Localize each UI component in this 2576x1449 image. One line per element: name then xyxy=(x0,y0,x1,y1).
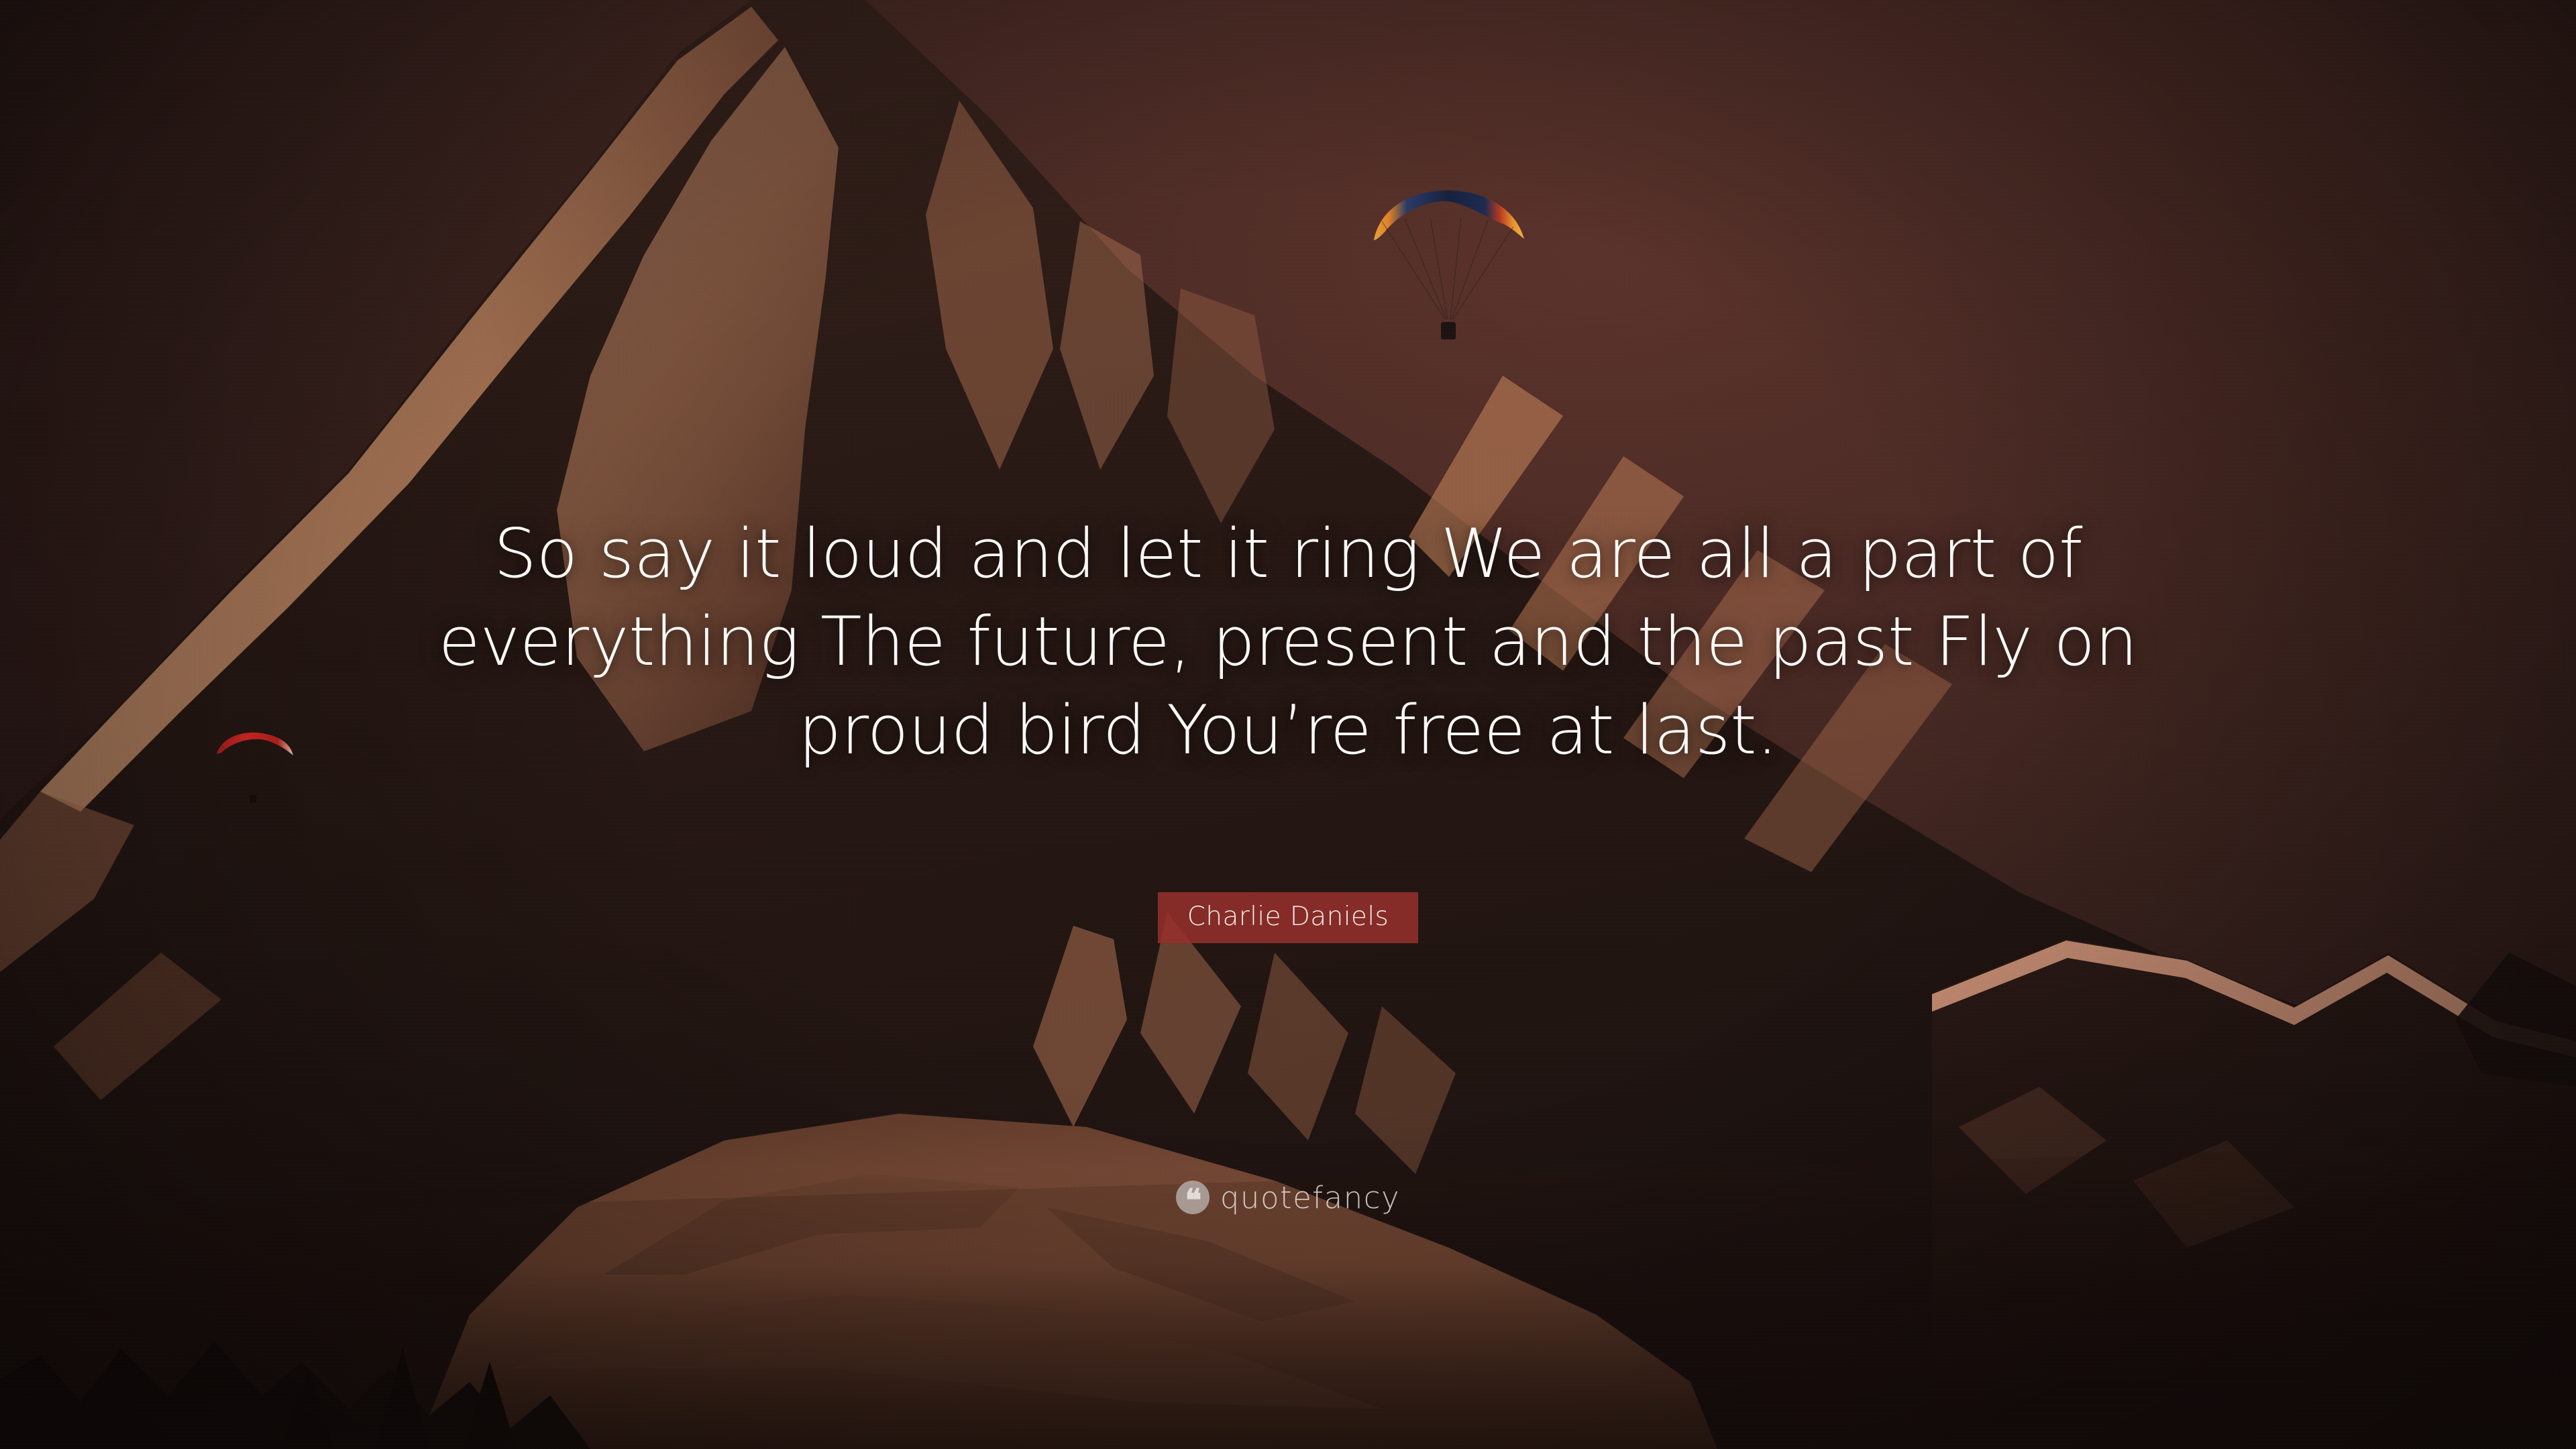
watermark-brand-label: quotefancy xyxy=(1220,1183,1400,1213)
quote-block: So say it loud and let it ring We are al… xyxy=(0,510,2576,774)
author-attribution: Charlie Daniels xyxy=(0,892,2576,943)
quote-mark-icon: ❝ xyxy=(1176,1181,1210,1214)
author-badge[interactable]: Charlie Daniels xyxy=(1158,892,1419,943)
quote-text: So say it loud and let it ring We are al… xyxy=(409,510,2167,774)
quote-mark-glyph: ❝ xyxy=(1185,1193,1200,1208)
wallpaper-canvas: So say it loud and let it ring We are al… xyxy=(0,0,2576,1449)
watermark[interactable]: ❝ quotefancy xyxy=(0,1181,2576,1214)
